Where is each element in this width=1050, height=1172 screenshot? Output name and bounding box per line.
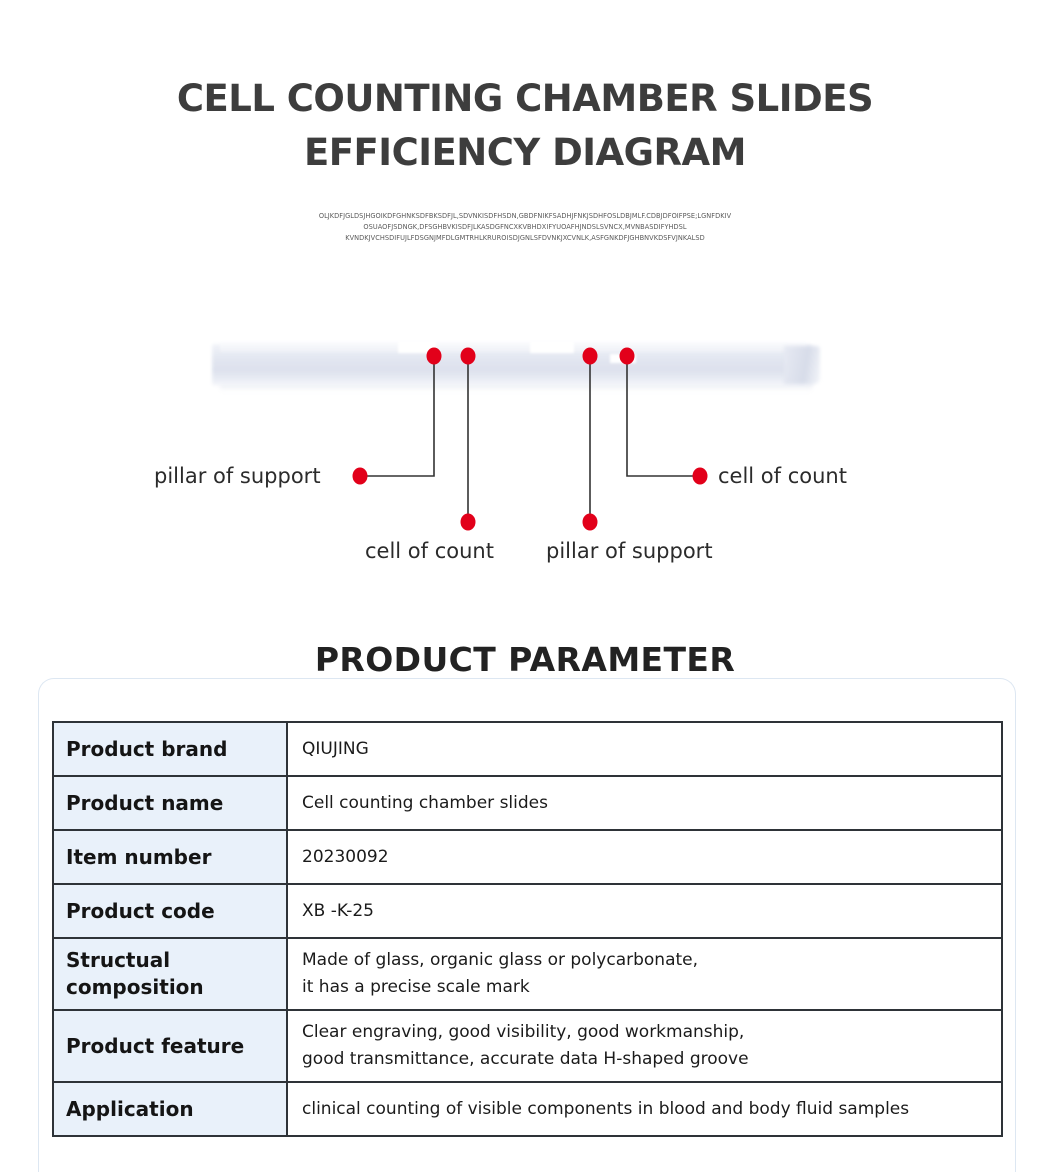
marker-dot-pillar-bottom-anchor — [583, 348, 598, 365]
param-value: clinical counting of visible components … — [287, 1082, 1002, 1136]
placeholder-line-3: KVNDKJVCHSDIFUJLFDSGNJMFDLGMTRHLKRUROISD… — [0, 233, 1050, 244]
param-value: Clear engraving, good visibility, good w… — [287, 1010, 1002, 1082]
marker-dot-cell-right-anchor — [620, 348, 635, 365]
param-value: QIUJING — [287, 722, 1002, 776]
param-value-line: good transmittance, accurate data H-shap… — [302, 1046, 1001, 1073]
product-parameter-table: Product brand QIUJING Product name Cell … — [52, 721, 1003, 1137]
param-value-line: Cell counting chamber slides — [302, 790, 1001, 817]
table-row: Product brand QIUJING — [53, 722, 1002, 776]
table-row: Structual composition Made of glass, org… — [53, 938, 1002, 1010]
param-key: Product feature — [53, 1010, 287, 1082]
callout-leader-lines — [100, 330, 920, 580]
param-value-line: XB -K-25 — [302, 898, 1001, 925]
marker-dot-pillar-left-label — [353, 468, 368, 485]
param-key: Structual composition — [53, 938, 287, 1010]
param-value: 20230092 — [287, 830, 1002, 884]
product-detail-page: CELL COUNTING CHAMBER SLIDES EFFICIENCY … — [0, 0, 1050, 1172]
param-value-line: clinical counting of visible components … — [302, 1096, 1001, 1123]
marker-dot-pillar-left-anchor — [427, 348, 442, 365]
table-row: Application clinical counting of visible… — [53, 1082, 1002, 1136]
param-value-line: Clear engraving, good visibility, good w… — [302, 1019, 1001, 1046]
callout-label-cell-of-count-bottom: cell of count — [365, 538, 494, 564]
callout-label-pillar-of-support-left: pillar of support — [154, 463, 321, 489]
marker-dot-pillar-bottom-label — [583, 514, 598, 531]
param-key: Product name — [53, 776, 287, 830]
param-value-line: Made of glass, organic glass or polycarb… — [302, 947, 1001, 974]
page-title: CELL COUNTING CHAMBER SLIDES EFFICIENCY … — [0, 72, 1050, 180]
marker-dot-cell-bottom-label — [461, 514, 476, 531]
marker-dot-cell-right-label — [693, 468, 708, 485]
table-row: Product feature Clear engraving, good vi… — [53, 1010, 1002, 1082]
param-key: Item number — [53, 830, 287, 884]
placeholder-line-2: OSUAOFJSDNGK,DFSGHBVKISDFJLKASDGFNCXKVBH… — [0, 222, 1050, 233]
param-key: Product code — [53, 884, 287, 938]
param-value: Cell counting chamber slides — [287, 776, 1002, 830]
table-row: Product name Cell counting chamber slide… — [53, 776, 1002, 830]
param-key-line: composition — [66, 974, 286, 1001]
param-key-line: Structual — [66, 947, 286, 974]
param-value-line: QIUJING — [302, 736, 1001, 763]
product-parameter-heading: PRODUCT PARAMETER — [0, 640, 1050, 679]
param-value-line: 20230092 — [302, 844, 1001, 871]
marker-dot-cell-bottom-anchor — [461, 348, 476, 365]
leader-line-cell-right — [627, 356, 698, 476]
param-value: Made of glass, organic glass or polycarb… — [287, 938, 1002, 1010]
title-line-2: EFFICIENCY DIAGRAM — [0, 126, 1050, 180]
param-key: Product brand — [53, 722, 287, 776]
callout-label-pillar-of-support-bottom: pillar of support — [546, 538, 713, 564]
placeholder-line-1: OLJKDFJGLDSJHGOIKDFGHNKSDFBKSDFJL,SDVNKI… — [0, 211, 1050, 222]
param-value: XB -K-25 — [287, 884, 1002, 938]
title-line-1: CELL COUNTING CHAMBER SLIDES — [0, 72, 1050, 126]
table-row: Product code XB -K-25 — [53, 884, 1002, 938]
placeholder-paragraph: OLJKDFJGLDSJHGOIKDFGHNKSDFBKSDFJL,SDVNKI… — [0, 211, 1050, 245]
param-value-line: it has a precise scale mark — [302, 974, 1001, 1001]
param-key: Application — [53, 1082, 287, 1136]
leader-line-pillar-left — [362, 356, 434, 476]
table-row: Item number 20230092 — [53, 830, 1002, 884]
callout-label-cell-of-count-right: cell of count — [718, 463, 847, 489]
